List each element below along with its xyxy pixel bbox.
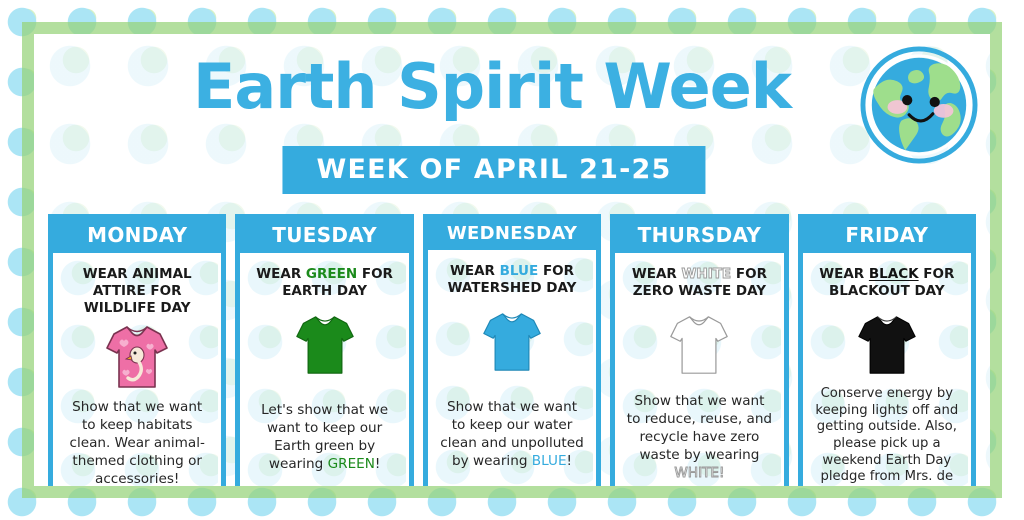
day-card-body-thursday: WEAR WHITE FOR ZERO WASTE DAY Show that …: [615, 253, 783, 486]
green-tshirt-icon: [294, 313, 356, 377]
shirt-illustration-wrap-monday: [104, 318, 170, 396]
day-card-thursday[interactable]: THURSDAY WEAR WHITE FOR ZERO WASTE DAY: [610, 214, 788, 486]
prompt-keyword: GREEN: [306, 266, 357, 282]
poster-sheet: Earth Spirit Week WEEK OF APRIL 21-25: [34, 34, 990, 486]
desc-text: Show that we want to reduce, reuse, and …: [627, 393, 772, 463]
day-prompt-thursday: WEAR WHITE FOR ZERO WASTE DAY: [624, 266, 774, 302]
day-card-body-monday: WEAR ANIMAL ATTIRE FOR WILDLIFE DAY: [53, 253, 221, 486]
spirit-week-poster: Earth Spirit Week WEEK OF APRIL 21-25: [0, 0, 1024, 520]
day-description-tuesday: Let's show that we want to keep our Eart…: [249, 386, 399, 486]
day-prompt-monday: WEAR ANIMAL ATTIRE FOR WILDLIFE DAY: [62, 266, 212, 314]
shirt-illustration-wrap-tuesday: [294, 306, 356, 384]
page-title: Earth Spirit Week: [34, 50, 990, 123]
white-tshirt-icon: [668, 313, 730, 377]
day-description-thursday: Show that we want to reduce, reuse, and …: [624, 386, 774, 486]
day-card-friday[interactable]: FRIDAY WEAR BLACK FOR BLACKOUT DAY Conse…: [798, 214, 976, 486]
day-card-tuesday[interactable]: TUESDAY WEAR GREEN FOR EARTH DAY: [235, 214, 413, 486]
day-card-monday[interactable]: MONDAY WEAR ANIMAL ATTIRE FOR WILDLIFE D…: [48, 214, 226, 486]
prompt-keyword: WHITE: [682, 266, 732, 282]
pink-flamingo-tshirt-icon: [104, 323, 170, 391]
desc-keyword: GREEN: [328, 456, 375, 472]
blue-tshirt-icon: [481, 310, 543, 374]
day-description-wednesday: Show that we want to keep our water clea…: [437, 383, 587, 485]
day-card-title-wednesday: WEDNESDAY: [428, 219, 596, 250]
prompt-keyword: BLUE: [500, 263, 539, 279]
day-card-title-monday: MONDAY: [53, 219, 221, 253]
day-cards-row: MONDAY WEAR ANIMAL ATTIRE FOR WILDLIFE D…: [48, 214, 976, 486]
desc-text-2: !: [375, 456, 380, 472]
prompt-keyword: BLACK: [869, 266, 919, 282]
prompt-text: WEAR: [256, 266, 306, 282]
day-card-title-tuesday: TUESDAY: [240, 219, 408, 253]
poster-header: Earth Spirit Week WEEK OF APRIL 21-25: [34, 34, 990, 204]
shirt-illustration-wrap-wednesday: [481, 303, 543, 381]
day-card-wednesday[interactable]: WEDNESDAY WEAR BLUE FOR WATERSHED DAY: [423, 214, 601, 486]
day-prompt-wednesday: WEAR BLUE FOR WATERSHED DAY: [437, 263, 587, 299]
earth-smiling-icon: [860, 46, 978, 164]
green-frame: Earth Spirit Week WEEK OF APRIL 21-25: [22, 22, 1002, 498]
shirt-illustration-wrap-thursday: [668, 306, 730, 384]
day-description-friday: Conserve energy by keeping lights off an…: [812, 386, 962, 486]
week-date-banner: WEEK OF APRIL 21-25: [282, 146, 705, 194]
desc-text-2: !: [719, 465, 724, 481]
shirt-illustration-wrap-friday: [856, 306, 918, 384]
day-card-body-friday: WEAR BLACK FOR BLACKOUT DAY Conserve ene…: [803, 253, 971, 486]
day-card-body-tuesday: WEAR GREEN FOR EARTH DAY Let's show that…: [240, 253, 408, 486]
day-prompt-tuesday: WEAR GREEN FOR EARTH DAY: [249, 266, 399, 302]
day-description-monday: Show that we want to keep habitats clean…: [62, 398, 212, 486]
day-card-body-wednesday: WEAR BLUE FOR WATERSHED DAY Show that we…: [428, 250, 596, 486]
day-card-title-friday: FRIDAY: [803, 219, 971, 253]
prompt-text: WEAR: [632, 266, 682, 282]
day-card-title-thursday: THURSDAY: [615, 219, 783, 253]
prompt-text: WEAR: [819, 266, 869, 282]
black-tshirt-icon: [856, 313, 918, 377]
day-prompt-friday: WEAR BLACK FOR BLACKOUT DAY: [812, 266, 962, 302]
prompt-text: WEAR: [450, 263, 500, 279]
desc-keyword: WHITE: [674, 465, 719, 481]
desc-keyword: BLUE: [532, 453, 567, 469]
desc-text-2: !: [567, 453, 572, 469]
